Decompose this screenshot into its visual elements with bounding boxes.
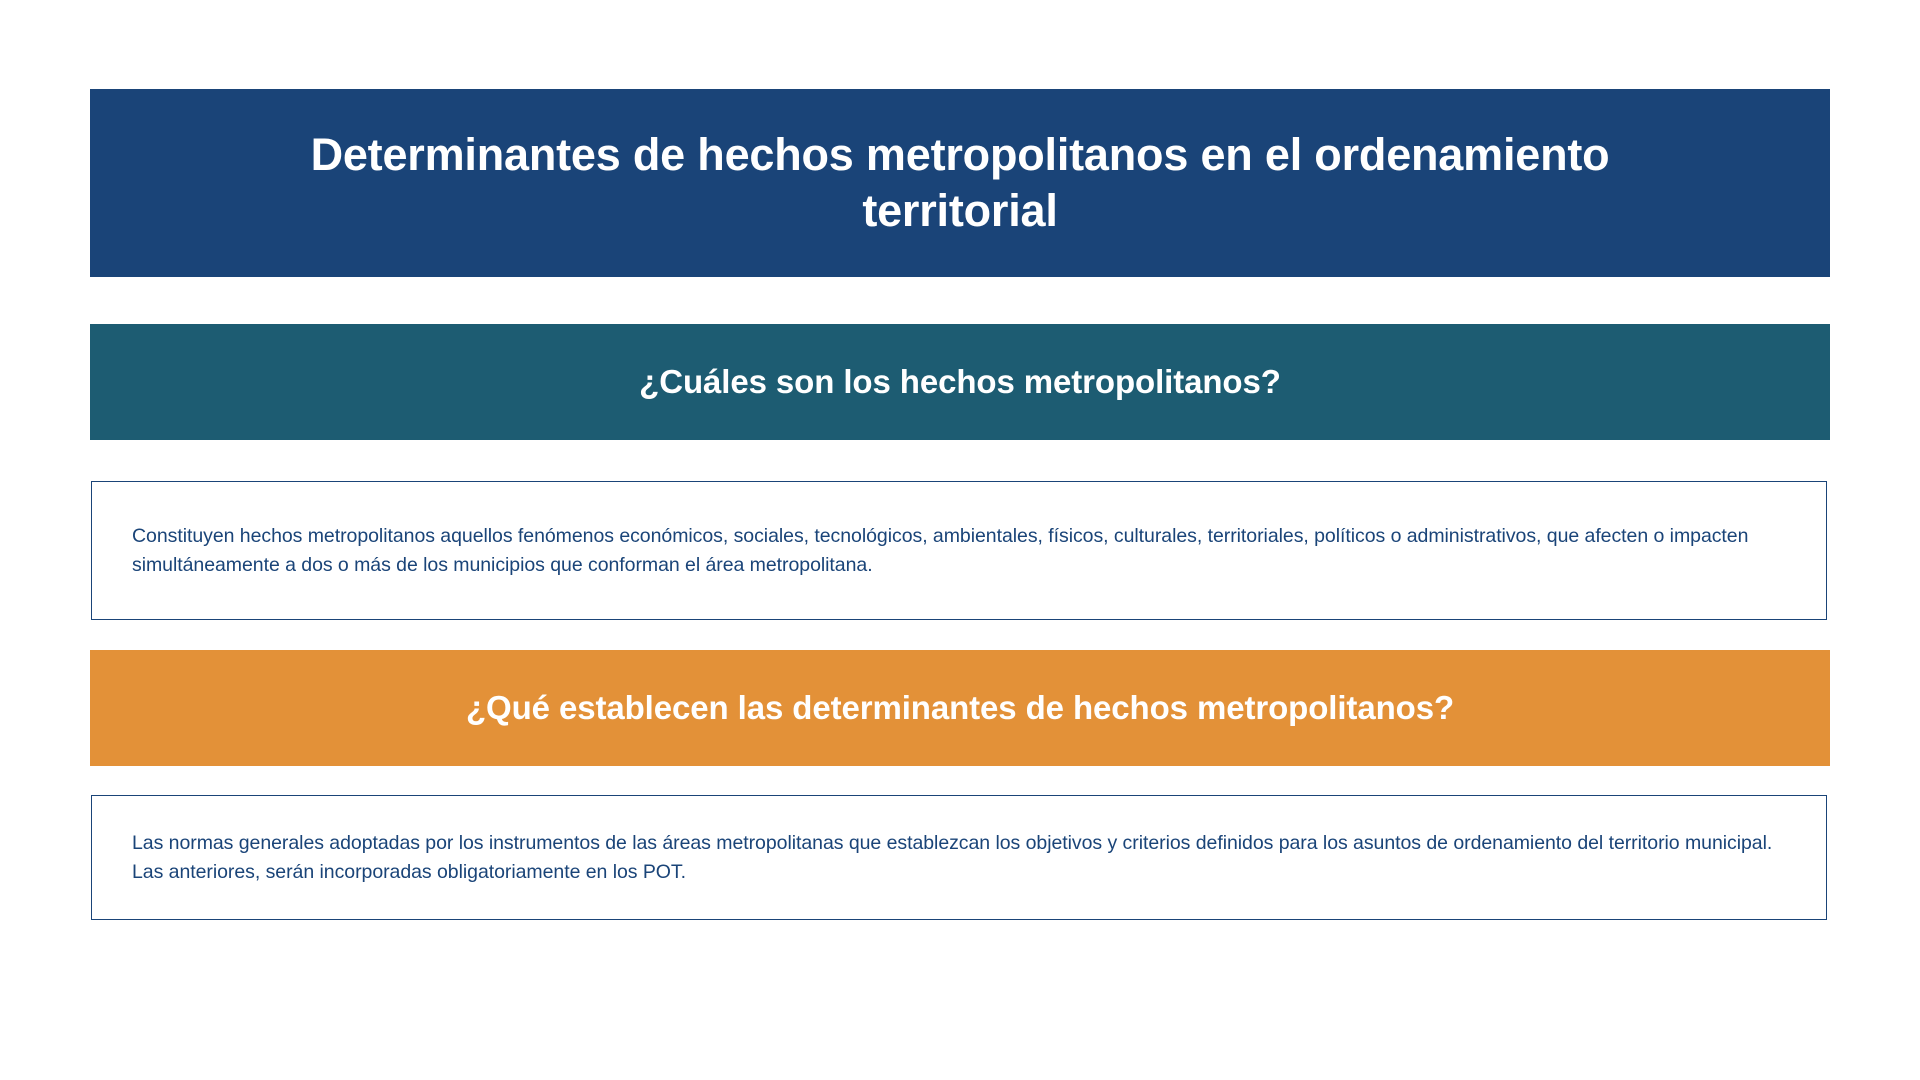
section-body-box-1: Constituyen hechos metropolitanos aquell… <box>91 481 1827 620</box>
title-banner: Determinantes de hechos metropolitanos e… <box>90 89 1830 277</box>
section-header-banner-2: ¿Qué establecen las determinantes de hec… <box>90 650 1830 766</box>
page-title: Determinantes de hechos metropolitanos e… <box>295 127 1625 240</box>
section-body-text-2: Las normas generales adoptadas por los i… <box>132 829 1786 886</box>
section-header-label-2: ¿Qué establecen las determinantes de hec… <box>466 688 1454 728</box>
section-body-text-1: Constituyen hechos metropolitanos aquell… <box>132 522 1786 579</box>
slide-canvas: Determinantes de hechos metropolitanos e… <box>0 0 1920 1080</box>
section-header-label-1: ¿Cuáles son los hechos metropolitanos? <box>639 362 1281 402</box>
section-header-banner-1: ¿Cuáles son los hechos metropolitanos? <box>90 324 1830 440</box>
section-body-box-2: Las normas generales adoptadas por los i… <box>91 795 1827 920</box>
